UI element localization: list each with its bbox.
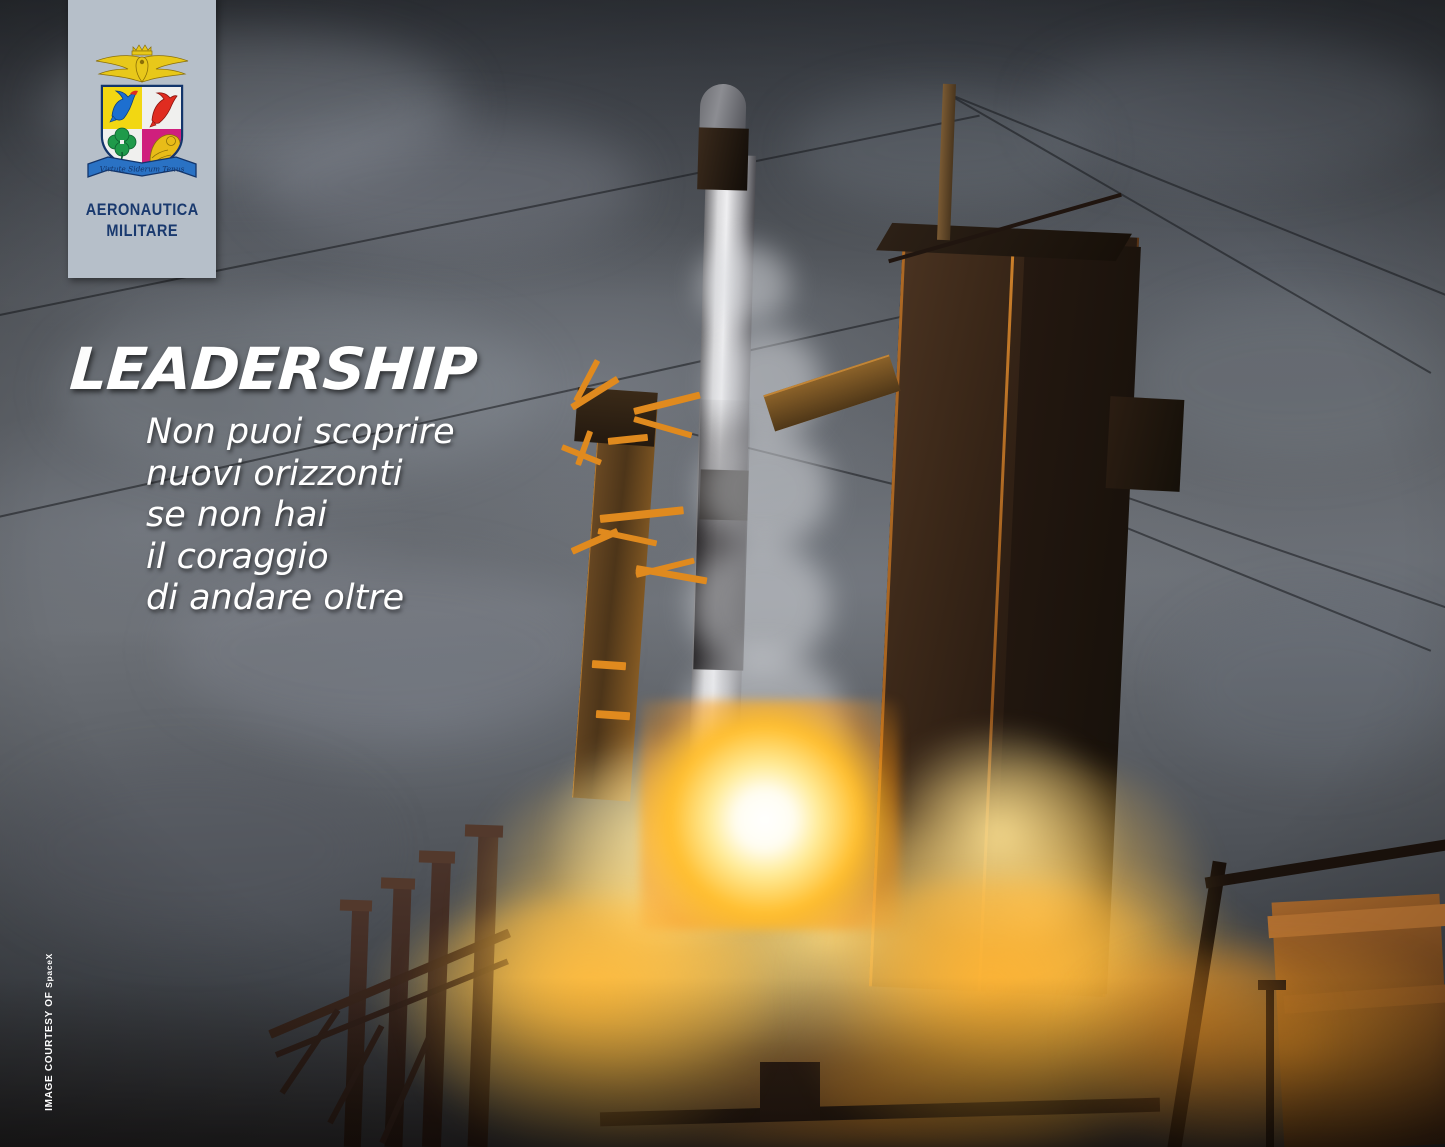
org-name: AERONAUTICA MILITARE [85, 200, 198, 242]
headline-container: LEADERSHIP [74, 340, 472, 398]
tagline-line-4: il coraggio [146, 537, 455, 579]
post-cap [340, 899, 372, 911]
vapor-puff [700, 245, 790, 325]
image-credit: IMAGE COURTESY OF SpaceX [44, 953, 55, 1111]
post-cap [419, 850, 455, 863]
org-name-line2: MILITARE [85, 221, 198, 242]
page-title: LEADERSHIP [68, 340, 478, 398]
motto-text: Virtute Siderum Tenus [100, 165, 185, 174]
ground-shadow [0, 977, 1445, 1147]
engine-flame-core [640, 700, 900, 930]
tagline-line-5: di andare oltre [146, 578, 455, 620]
aeronautica-militare-logo-panel[interactable]: Virtute Siderum Tenus AERONAUTICA MILITA… [68, 0, 216, 278]
tagline-line-2: nuovi orizzonti [146, 454, 455, 496]
tagline-line-3: se non hai [146, 495, 455, 537]
vapor-puff [700, 430, 830, 550]
post-cap [381, 877, 415, 889]
crown-icon [132, 45, 152, 55]
tagline-line-1: Non puoi scoprire [146, 412, 455, 454]
org-name-line1: AERONAUTICA [85, 200, 198, 221]
eagle-icon [96, 56, 188, 82]
capsule-trunk [697, 127, 749, 190]
post-cap [465, 824, 503, 837]
image-credit-prefix: IMAGE COURTESY OF [44, 988, 55, 1111]
launch-poster: Virtute Siderum Tenus AERONAUTICA MILITA… [0, 0, 1445, 1147]
tower-side-platform [1106, 396, 1185, 492]
tagline: Non puoi scoprire nuovi orizzonti se non… [146, 412, 455, 620]
image-credit-brand: SpaceX [44, 953, 54, 988]
coat-of-arms-icon: Virtute Siderum Tenus [86, 44, 198, 190]
